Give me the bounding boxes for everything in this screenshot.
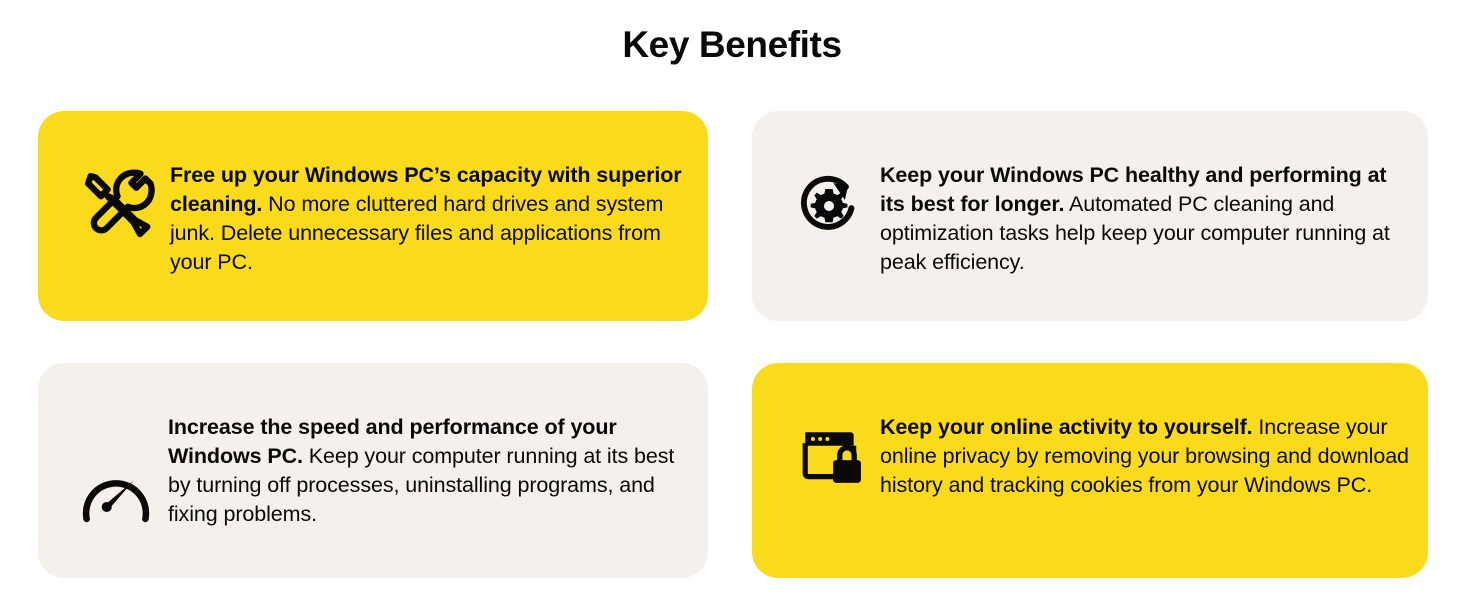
benefit-card-increase-speed: Increase the speed and performance of yo… <box>38 363 708 578</box>
benefit-card-online-privacy: Keep your online activity to yourself. I… <box>752 363 1428 578</box>
benefit-card-text: Keep your Windows PC healthy and perform… <box>880 161 1418 277</box>
speedometer-icon <box>63 413 168 525</box>
gear-refresh-icon <box>777 161 880 241</box>
browser-lock-icon <box>784 413 880 489</box>
benefit-card-text: Increase the speed and performance of yo… <box>168 413 698 529</box>
wrench-screwdriver-icon <box>65 161 170 245</box>
benefit-card-free-up-capacity: Free up your Windows PC’s capacity with … <box>38 111 708 321</box>
key-benefits-page: Key Benefits Free up your Windows PC’s c… <box>0 0 1464 600</box>
benefit-card-text: Free up your Windows PC’s capacity with … <box>170 161 698 277</box>
benefit-card-lead: Keep your online activity to yourself. <box>880 415 1253 439</box>
page-title: Key Benefits <box>0 24 1464 66</box>
benefits-grid: Free up your Windows PC’s capacity with … <box>38 111 1428 578</box>
benefit-card-text: Keep your online activity to yourself. I… <box>880 413 1418 500</box>
benefit-card-keep-pc-healthy: Keep your Windows PC healthy and perform… <box>752 111 1428 321</box>
